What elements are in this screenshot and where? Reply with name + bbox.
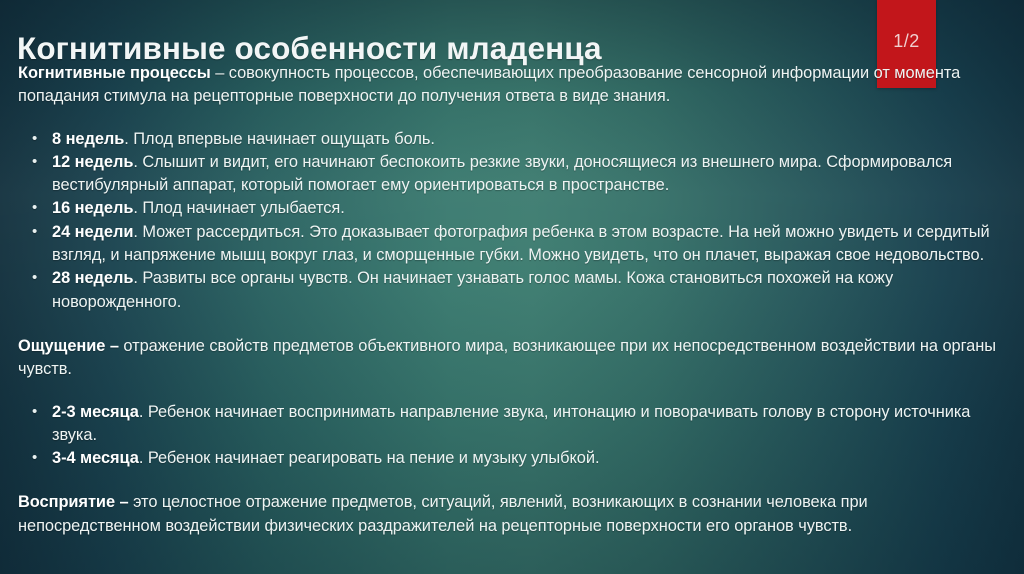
list-item: 2-3 месяца. Ребенок начинает воспринимат… — [18, 401, 1006, 448]
list-item: 28 недель. Развиты все органы чувств. Он… — [18, 267, 1006, 314]
spacer — [18, 470, 1006, 491]
spacer — [18, 109, 1006, 128]
perception-text: это целостное отражение предметов, ситуа… — [18, 493, 868, 534]
page-number-label: 1/2 — [877, 30, 936, 52]
bullet-text: . Слышит и видит, его начинают беспокоит… — [52, 153, 952, 194]
list-item: 12 недель. Слышит и видит, его начинают … — [18, 151, 1006, 198]
list-item: 16 недель. Плод начинает улыбается. — [18, 197, 1006, 220]
bullet-term: 28 недель — [52, 269, 133, 287]
bullet-text: . Развиты все органы чувств. Он начинает… — [52, 269, 893, 310]
sensation-term: Ощущение – — [18, 337, 119, 355]
bullet-text: . Ребенок начинает реагировать на пение … — [139, 449, 600, 467]
sensation-text: отражение свойств предметов объективного… — [18, 337, 996, 378]
bullet-term: 8 недель — [52, 130, 124, 148]
bullet-text: . Плод начинает улыбается. — [133, 199, 344, 217]
perception-term: Восприятие – — [18, 493, 129, 511]
bullet-text: . Ребенок начинает воспринимать направле… — [52, 403, 970, 444]
slide-body: Когнитивные процессы – совокупность проц… — [18, 62, 1006, 538]
spacer — [18, 382, 1006, 401]
bullet-term: 2-3 месяца — [52, 403, 139, 421]
bullet-text: . Плод впервые начинает ощущать боль. — [124, 130, 435, 148]
sensation-paragraph: Ощущение – отражение свойств предметов о… — [18, 335, 1006, 382]
postnatal-bullet-list: 2-3 месяца. Ребенок начинает воспринимат… — [18, 401, 1006, 471]
bullet-term: 16 недель — [52, 199, 133, 217]
bullet-text: . Может рассердиться. Это доказывает фот… — [52, 223, 990, 264]
list-item: 24 недели. Может рассердиться. Это доказ… — [18, 221, 1006, 268]
list-item: 8 недель. Плод впервые начинает ощущать … — [18, 128, 1006, 151]
bullet-term: 12 недель — [52, 153, 133, 171]
perception-paragraph: Восприятие – это целостное отражение пре… — [18, 491, 1006, 538]
prenatal-bullet-list: 8 недель. Плод впервые начинает ощущать … — [18, 128, 1006, 314]
bullet-term: 3-4 месяца — [52, 449, 139, 467]
spacer — [18, 314, 1006, 335]
list-item: 3-4 месяца. Ребенок начинает реагировать… — [18, 447, 1006, 470]
intro-paragraph: Когнитивные процессы – совокупность проц… — [18, 62, 1006, 109]
bullet-term: 24 недели — [52, 223, 133, 241]
slide-canvas: Когнитивные особенности младенца 1/2 Ког… — [0, 0, 1024, 574]
intro-term: Когнитивные процессы — [18, 64, 211, 82]
